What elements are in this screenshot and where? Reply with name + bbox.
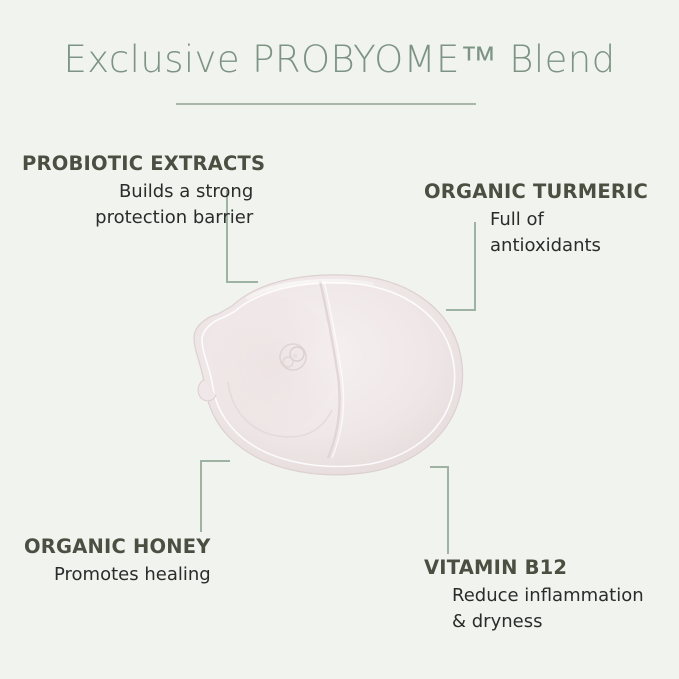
infographic-canvas: Exclusive PROBYOME™ Blend xyxy=(0,0,679,679)
callout-heading: VITAMIN B12 xyxy=(424,556,644,579)
callout-organic-honey: ORGANIC HONEY Promotes healing xyxy=(24,535,211,588)
callout-organic-turmeric: ORGANIC TURMERIC Full of antioxidants xyxy=(424,180,648,258)
callout-body: Reduce inflammation & dryness xyxy=(452,583,644,634)
pad-left-lobe-shading xyxy=(212,296,336,432)
page-title: Exclusive PROBYOME™ Blend xyxy=(0,38,679,81)
callout-heading: ORGANIC TURMERIC xyxy=(424,180,648,203)
callout-heading: ORGANIC HONEY xyxy=(24,535,211,558)
callout-vitamin-b12: VITAMIN B12 Reduce inflammation & drynes… xyxy=(424,556,644,634)
title-divider xyxy=(176,103,476,105)
callout-heading: PROBIOTIC EXTRACTS xyxy=(22,152,265,175)
callout-body: Full of antioxidants xyxy=(490,207,648,258)
product-image-nursing-pad xyxy=(188,272,468,480)
callout-body: Promotes healing xyxy=(54,562,211,588)
callout-body: Builds a strong protection barrier xyxy=(22,179,253,230)
callout-probiotic-extracts: PROBIOTIC EXTRACTS Builds a strong prote… xyxy=(22,152,265,230)
